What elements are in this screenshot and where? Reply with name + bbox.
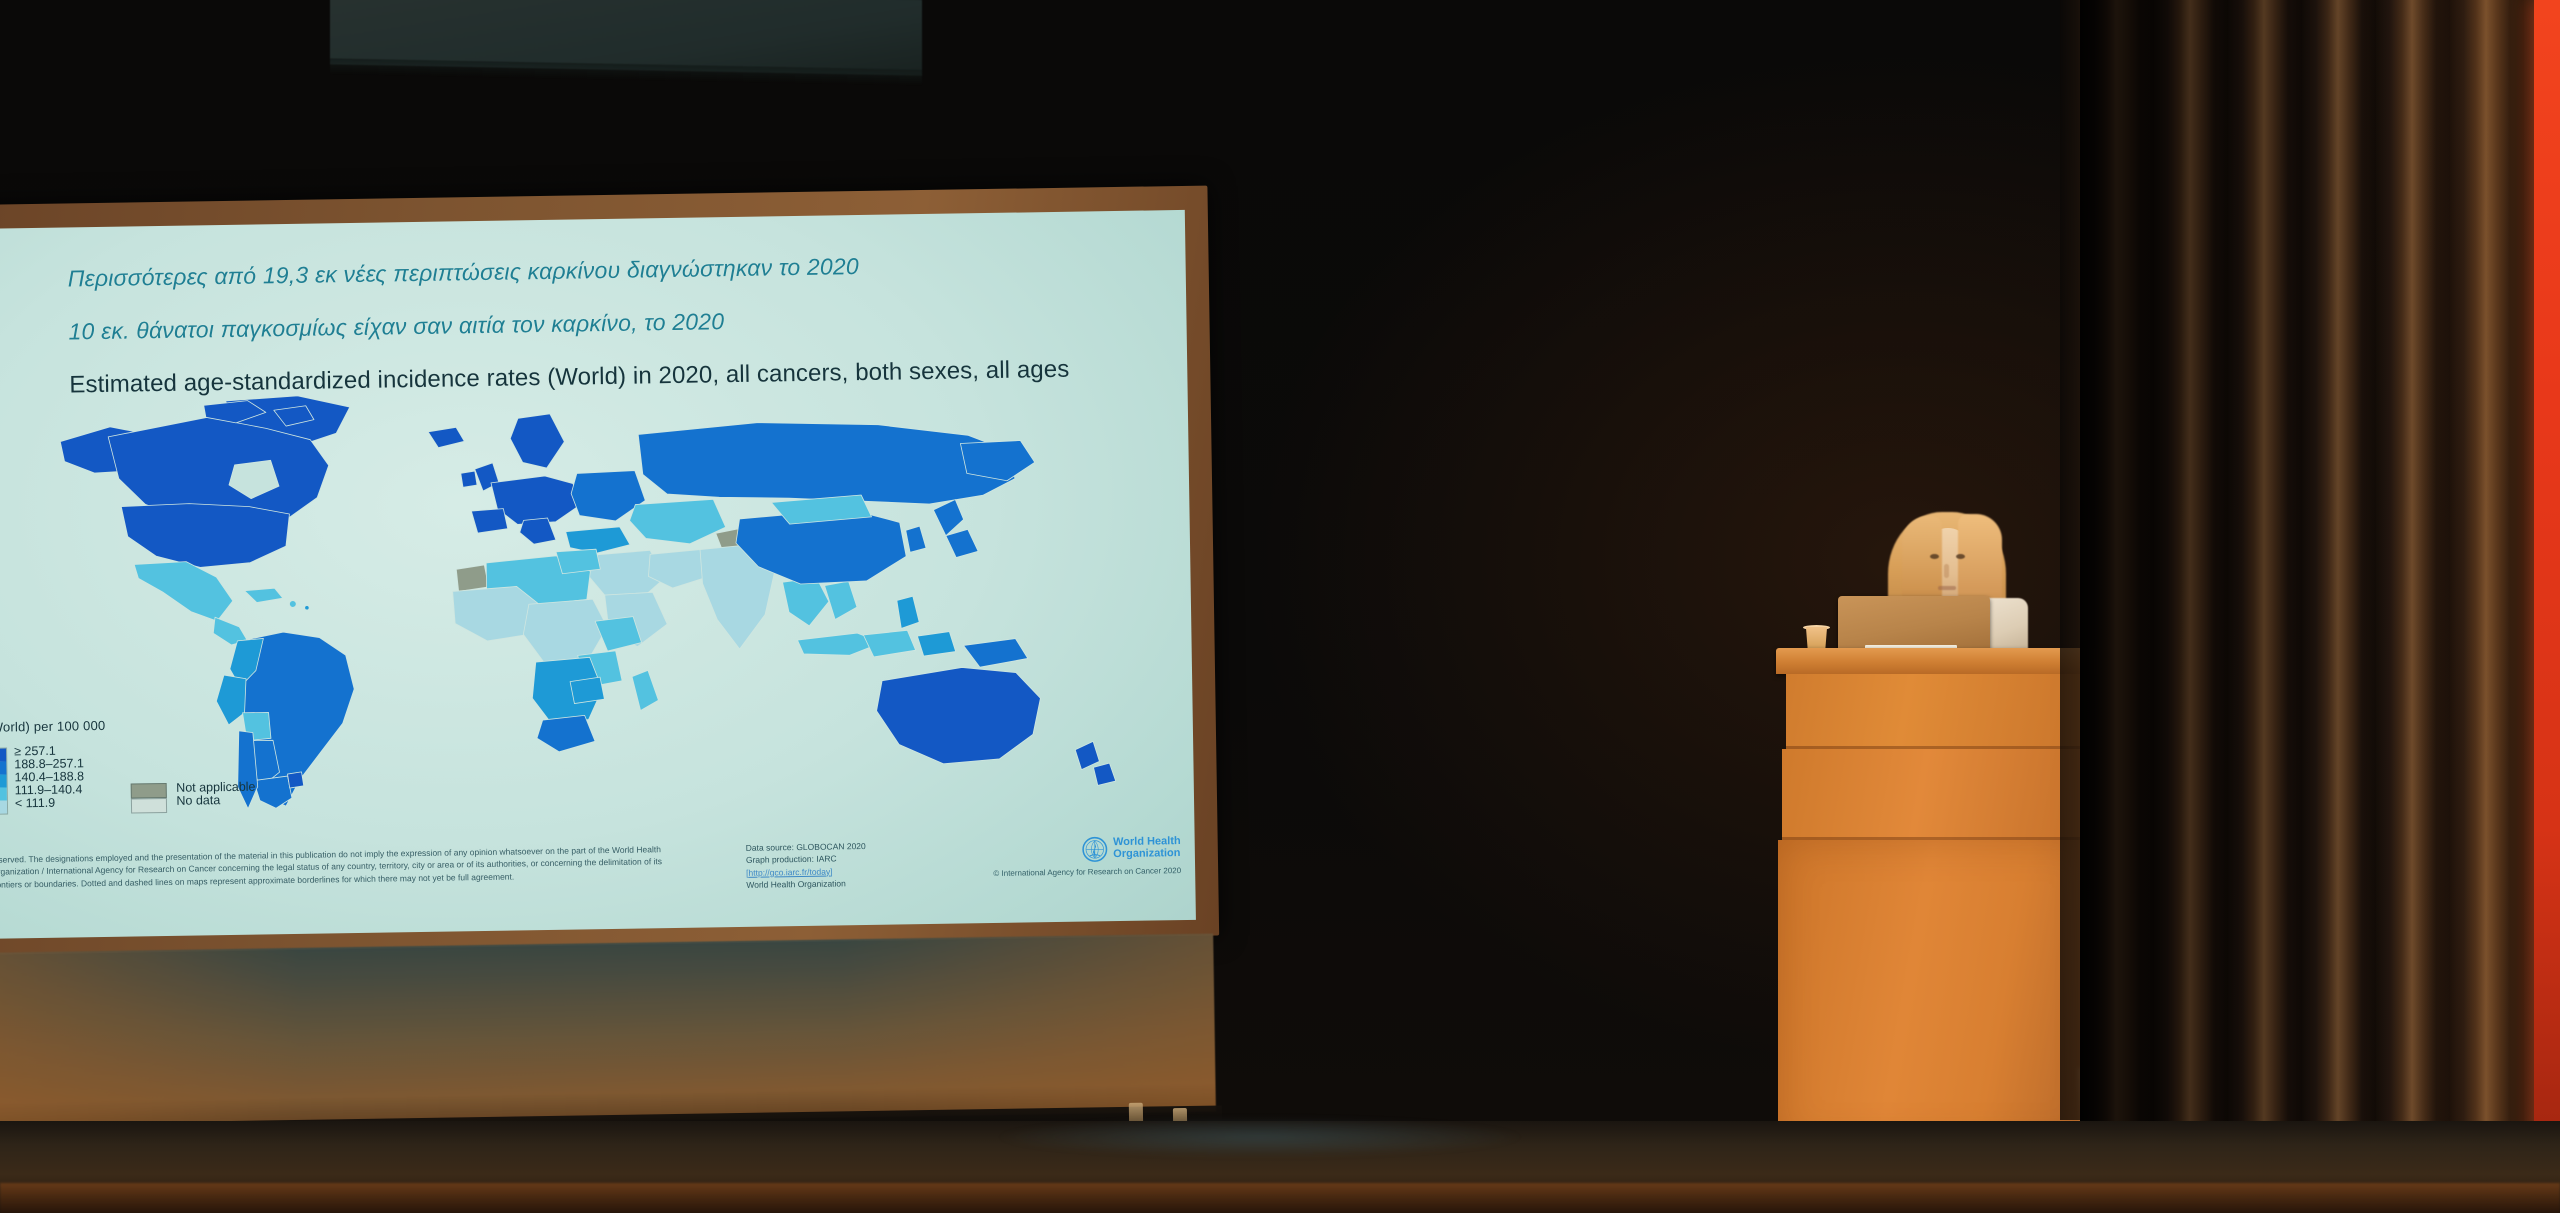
- projection-screen-assembly: Περισσότερες από 19,3 εκ νέες περιπτώσει…: [0, 185, 1257, 1165]
- slide-disclaimer: reserved. The designations employed and …: [0, 843, 691, 891]
- slide-greek-line-2: 10 εκ. θάνατοι παγκοσμίως είχαν σαν αιτί…: [68, 301, 1158, 345]
- region-new-zealand-south: [1093, 763, 1115, 785]
- slide-greek-line-1: Περισσότερες από 19,3 εκ νέες περιπτώσει…: [68, 248, 1158, 292]
- region-scandinavia: [510, 414, 565, 469]
- legend-labels: ≥ 257.1 188.8–257.1 140.4–188.8 111.9–14…: [14, 745, 85, 811]
- region-vietnam: [825, 581, 858, 619]
- presentation-slide: Περισσότερες από 19,3 εκ νέες περιπτώσει…: [0, 210, 1196, 939]
- who-branding: World Health Organization © Internationa…: [981, 835, 1182, 880]
- region-south-africa: [537, 715, 596, 752]
- region-iberia: [471, 509, 507, 534]
- screen-surface: Περισσότερες από 19,3 εκ νέες περιπτώσει…: [0, 210, 1196, 939]
- screen-skirt: [0, 934, 1216, 1131]
- stage-floor-light-spill: [1000, 1117, 1520, 1157]
- region-puerto-rico: [305, 606, 309, 610]
- screen-frame: Περισσότερες από 19,3 εκ νέες περιπτώσει…: [0, 186, 1219, 955]
- upper-dark-panel: [330, 0, 922, 76]
- region-western-sahara-not-applicable: [456, 565, 488, 591]
- region-borneo: [863, 630, 915, 657]
- region-papua-new-guinea: [963, 638, 1027, 667]
- legend-label-4: < 111.9: [15, 797, 85, 811]
- legend-swatch-3: [0, 788, 7, 801]
- lectern-mid-panel: [1782, 749, 2092, 840]
- legend-swatch-4: [0, 801, 7, 814]
- legend-swatch-2: [0, 775, 7, 788]
- speaker-lectern: [1778, 648, 2096, 1160]
- region-ethiopia-somalia: [595, 617, 642, 652]
- legend-label-no-data: No data: [176, 794, 255, 808]
- map-legend: World) per 100 000 ≥ 257.1: [0, 712, 412, 816]
- slide-footer: reserved. The designations employed and …: [0, 835, 1181, 903]
- legend-extra-labels: Not applicable No data: [176, 781, 256, 808]
- stage-accent-strip: [2534, 0, 2560, 1150]
- region-cuba: [245, 588, 283, 603]
- legend-swatch-not-applicable: [130, 783, 166, 799]
- legend-color-ramp: [0, 748, 8, 815]
- slide-heading-block: Περισσότερες από 19,3 εκ νέες περιπτώσει…: [68, 248, 1160, 399]
- region-indochina: [783, 578, 830, 627]
- region-central-africa: [523, 599, 608, 662]
- legend-swatch-1: [0, 762, 6, 775]
- stage-curtain-glow: [2360, 0, 2560, 1145]
- lectern-upper-panel: [1786, 674, 2088, 749]
- who-name-text: World Health Organization: [1113, 837, 1181, 861]
- laptop[interactable]: [1838, 596, 1990, 652]
- slide-source-block: Data source: GLOBOCAN 2020 Graph product…: [746, 839, 937, 891]
- region-new-zealand-north: [1075, 741, 1099, 769]
- source-org: World Health Organization: [746, 876, 936, 891]
- region-russia: [638, 419, 1015, 509]
- region-zimbabwe: [570, 677, 604, 704]
- legend-swatch-no-data: [130, 798, 166, 814]
- who-emblem-icon: [1082, 836, 1108, 862]
- legend-extra-swatches: [130, 783, 166, 814]
- who-copyright: © International Agency for Research on C…: [993, 865, 1181, 880]
- who-name-line-2: Organization: [1113, 847, 1180, 860]
- region-sulawesi: [917, 632, 955, 657]
- region-egypt: [556, 549, 600, 574]
- presenter-nose: [1944, 564, 1949, 578]
- region-philippines: [897, 596, 919, 628]
- region-korea: [906, 526, 926, 552]
- lectern-top-surface: [1776, 648, 2098, 674]
- presenter-mouth: [1938, 586, 1956, 590]
- legend-extra-block: Not applicable No data: [130, 781, 256, 814]
- presenter-eye-left: [1930, 554, 1939, 559]
- region-hispaniola: [289, 601, 296, 608]
- region-japan-south: [946, 529, 978, 557]
- stage-floor-edge: [0, 1183, 2560, 1213]
- legend-swatch-0: [0, 749, 6, 762]
- stage-scene: Περισσότερες από 19,3 εκ νέες περιπτώσει…: [0, 0, 2560, 1213]
- region-madagascar: [632, 670, 659, 710]
- presenter-eye-right: [1956, 554, 1965, 559]
- lectern-body-panel: [1778, 840, 2096, 1144]
- region-ireland: [461, 471, 477, 487]
- region-turkey: [566, 527, 630, 554]
- region-iceland: [428, 427, 464, 448]
- region-central-asia: [629, 499, 726, 545]
- region-mexico: [134, 561, 233, 623]
- region-japan-north: [933, 499, 964, 535]
- region-australia: [876, 666, 1041, 765]
- region-united-states: [121, 502, 290, 569]
